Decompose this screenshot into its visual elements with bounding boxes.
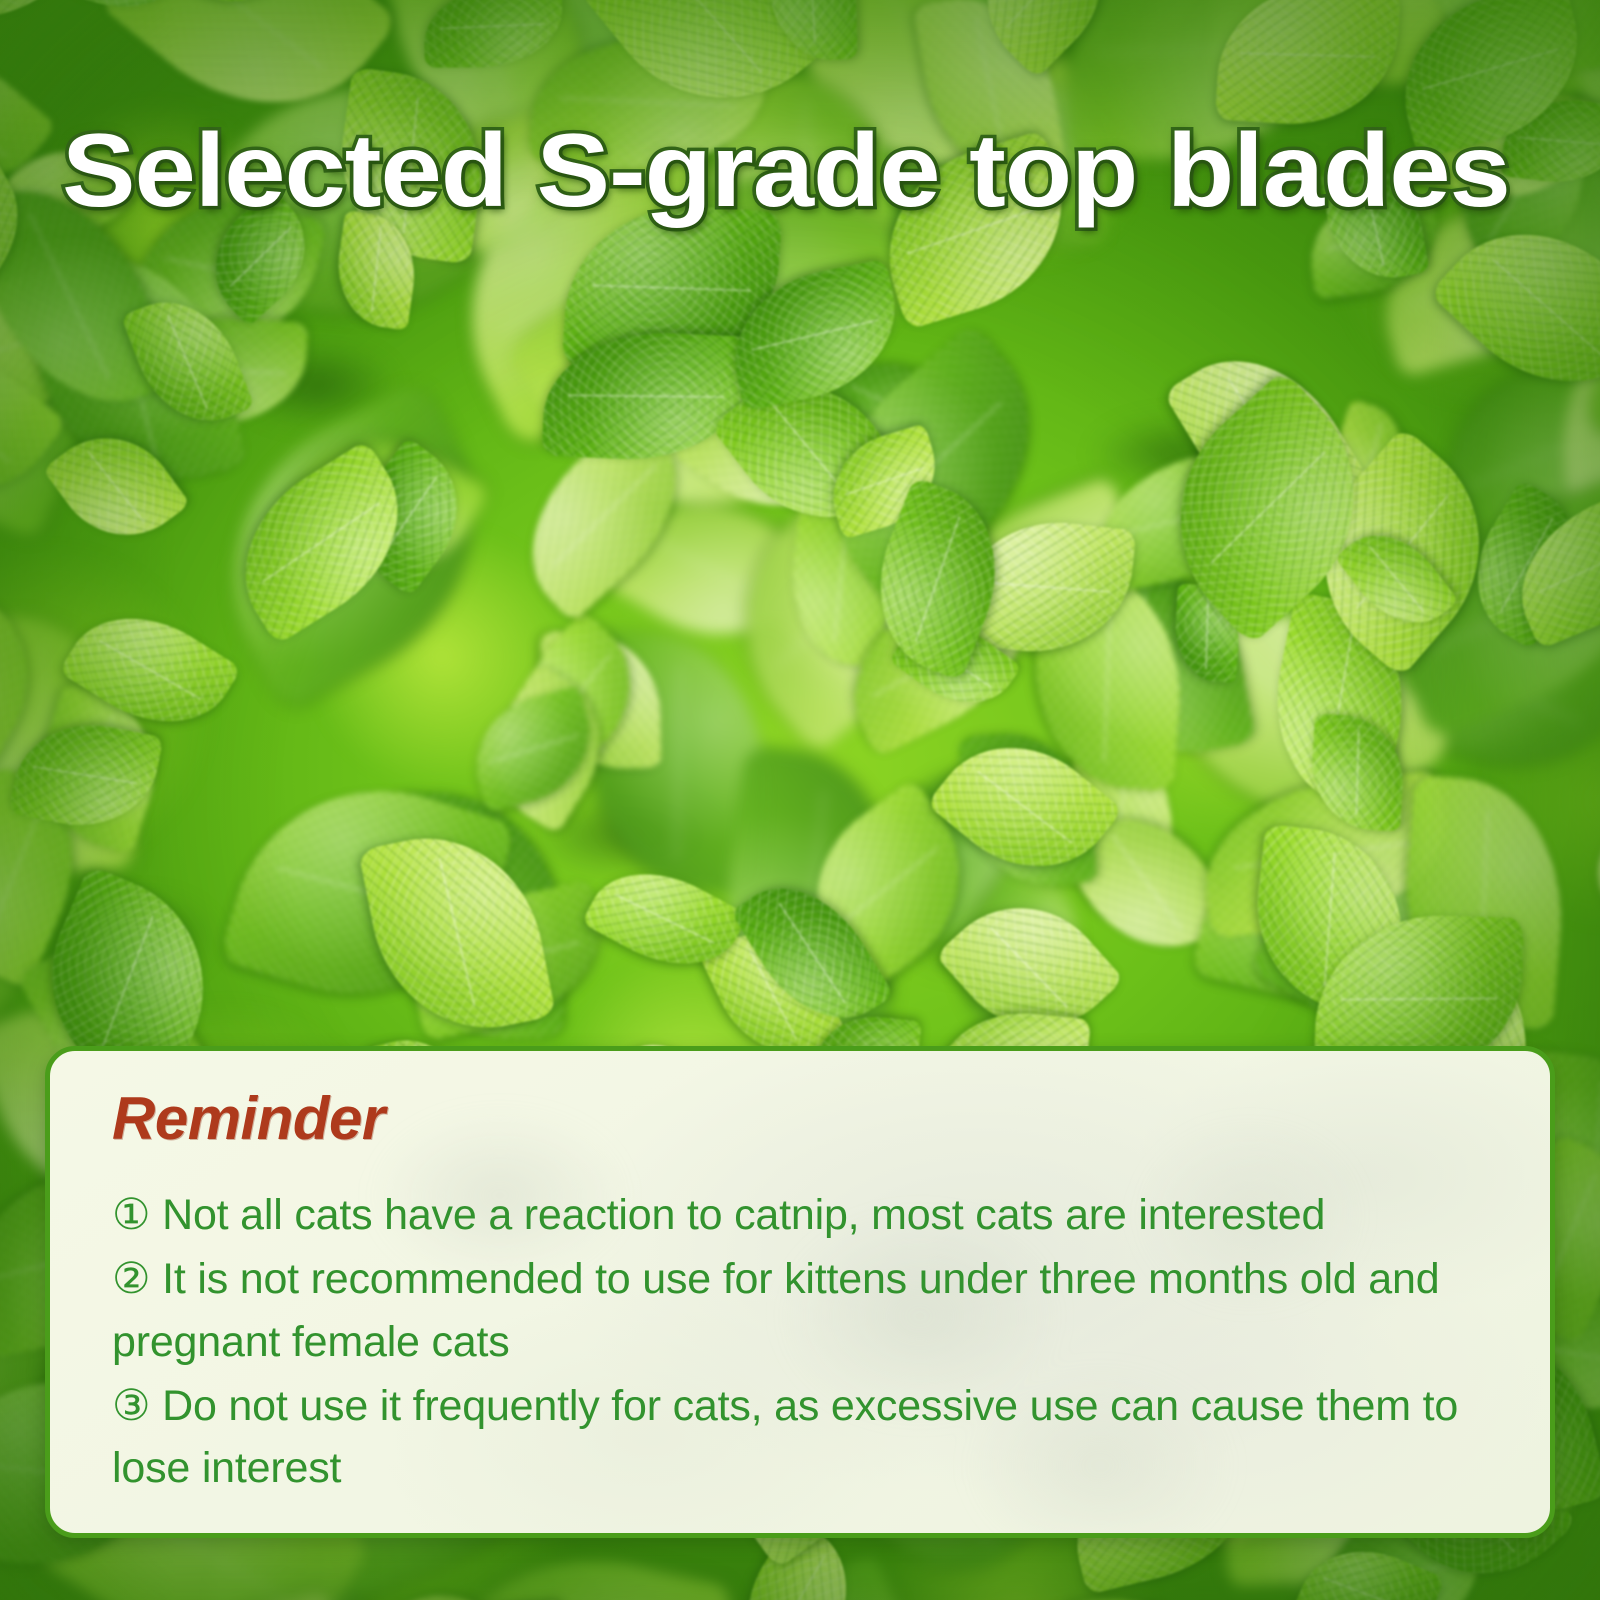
list-item: ② It is not recommended to use for kitte… [112, 1248, 1510, 1373]
mint-leaf [0, 151, 52, 352]
mint-leaf [358, 818, 556, 1046]
mint-leaf [1215, 0, 1401, 131]
poster-title-container: Selected S-grade top blades [62, 118, 1542, 224]
mint-leaf [952, 0, 1138, 79]
mint-leaf [0, 0, 105, 24]
mint-leaf [423, 0, 562, 67]
reminder-heading: Reminder [112, 1087, 1510, 1150]
reminder-card: Reminder ① Not all cats have a reaction … [45, 1046, 1555, 1538]
reminder-list: ① Not all cats have a reaction to catnip… [112, 1184, 1510, 1500]
mint-leaf [8, 711, 163, 840]
mint-leaf [541, 328, 751, 465]
list-item: ③ Do not use it frequently for cats, as … [112, 1375, 1510, 1500]
list-item: ① Not all cats have a reaction to catnip… [112, 1184, 1510, 1246]
mint-leaf [1308, 714, 1406, 832]
reminder-card-content: Reminder ① Not all cats have a reaction … [50, 1051, 1550, 1500]
product-poster: Selected S-grade top blades Reminder ① N… [0, 0, 1600, 1600]
page-title: Selected S-grade top blades [62, 118, 1600, 224]
mint-leaf [766, 0, 858, 61]
